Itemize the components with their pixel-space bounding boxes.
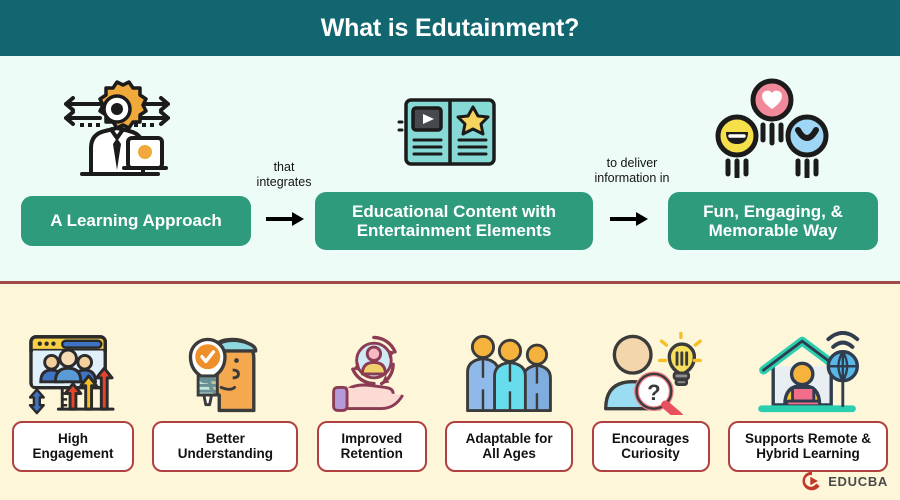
benefit-remote-hybrid[interactable]: Supports Remote & Hybrid Learning [728, 312, 888, 472]
person-lightbulb-magnifier-icon: ? [598, 329, 704, 415]
connector-1-caption: that integrates [250, 160, 318, 190]
arrow-shaft [610, 217, 636, 221]
benefit-label: High Engagement [12, 421, 134, 472]
head-lightbulb-check-icon [177, 329, 273, 415]
benefit-better-understanding[interactable]: Better Understanding [152, 312, 298, 472]
dashboard-people-growth-icon [19, 329, 127, 415]
person-gear-laptop-icon [58, 78, 176, 178]
hand-refresh-user-icon [324, 329, 420, 415]
arrow-right-icon [266, 212, 304, 226]
page-title: What is Edutainment? [321, 14, 580, 43]
flow-section: A Learning Approach Educational Content … [0, 56, 900, 283]
flow-step-1[interactable]: A Learning Approach [21, 196, 251, 246]
connector-1-caption-line1: that [250, 160, 318, 175]
connector-2-caption-line1: to deliver [594, 156, 670, 171]
arrow-right-icon [610, 212, 648, 226]
benefit-adaptable-all-ages[interactable]: Adaptable for All Ages [445, 312, 573, 472]
svg-text:?: ? [647, 380, 661, 405]
benefit-label: Improved Retention [317, 421, 427, 472]
header-bar: What is Edutainment? [0, 0, 900, 56]
flow-step-3[interactable]: Fun, Engaging, & Memorable Way [668, 192, 878, 250]
arrow-head [292, 212, 304, 226]
flow-step-2-label: Educational Content with Entertainment E… [325, 202, 583, 240]
arrow-shaft [266, 217, 292, 221]
benefit-encourages-curiosity[interactable]: ? Encourages Curiosity [592, 312, 710, 472]
benefit-label: Supports Remote & Hybrid Learning [728, 421, 888, 472]
connector-2-caption-line2: information in [594, 171, 670, 186]
three-people-icon [456, 329, 562, 415]
benefit-label: Encourages Curiosity [592, 421, 710, 472]
flow-step-2[interactable]: Educational Content with Entertainment E… [315, 192, 593, 250]
flow-step-1-label: A Learning Approach [50, 211, 222, 230]
benefits-section: High Engagement [0, 284, 900, 500]
educba-logo[interactable]: EDUCBA [801, 470, 888, 492]
flow-step-3-label: Fun, Engaging, & Memorable Way [678, 202, 868, 240]
benefit-high-engagement[interactable]: High Engagement [12, 312, 134, 472]
benefit-label: Adaptable for All Ages [445, 421, 573, 472]
house-laptop-globe-icon [750, 329, 866, 415]
benefit-improved-retention[interactable]: Improved Retention [317, 312, 427, 472]
benefits-list: High Engagement [0, 312, 900, 472]
educba-wordmark: EDUCBA [828, 474, 888, 489]
arrow-head [636, 212, 648, 226]
educba-mark-icon [801, 470, 823, 492]
infographic-page: What is Edutainment? [0, 0, 900, 500]
connector-2-caption: to deliver information in [594, 156, 670, 186]
benefit-label: Better Understanding [152, 421, 298, 472]
emoji-reactions-icon [712, 78, 832, 178]
open-book-video-star-icon [395, 94, 505, 172]
connector-1-caption-line2: integrates [250, 175, 318, 190]
